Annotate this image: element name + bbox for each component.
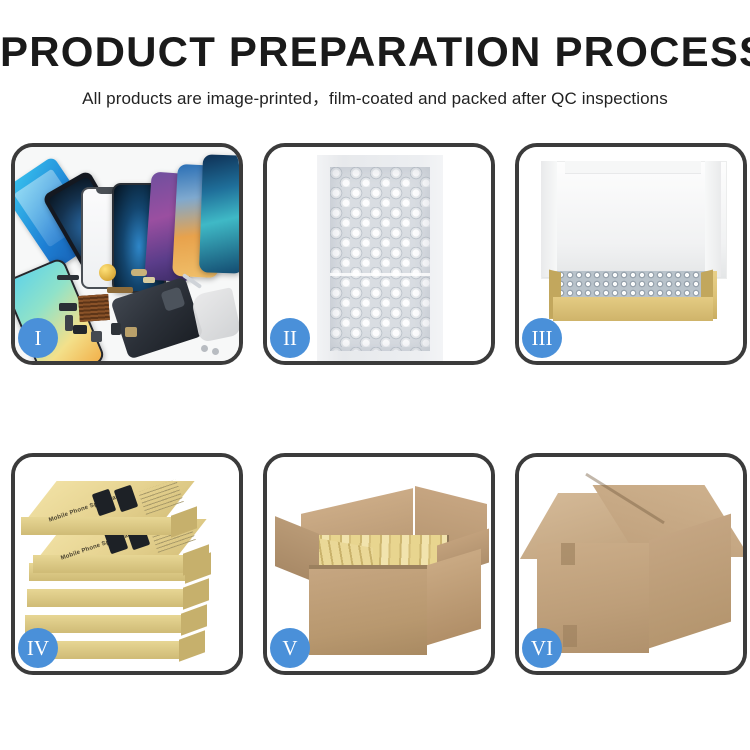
box-front <box>21 517 171 535</box>
spare-part <box>57 275 79 280</box>
spare-part <box>91 331 102 342</box>
wrap-sheet <box>317 155 443 361</box>
spare-part <box>131 269 147 276</box>
step-badge-1: I <box>18 318 58 358</box>
carton-tape-mark <box>561 543 575 565</box>
step-panel-4: Mobile Phone Spare Parts Mobile Phone Sp… <box>11 453 243 675</box>
page-subtitle: All products are image-printed，film-coat… <box>0 84 750 109</box>
spare-part <box>59 303 77 311</box>
step-panel-5: V <box>263 453 495 675</box>
step-badge-4: IV <box>18 628 58 668</box>
spare-part <box>65 315 73 331</box>
step-badge-2: II <box>270 318 310 358</box>
box-lid-flap-left <box>541 161 557 277</box>
flex-cable-part <box>107 287 133 293</box>
step-badge-6: VI <box>522 628 562 668</box>
box-lid-white <box>541 161 727 279</box>
wrap-seam <box>330 273 430 276</box>
step-panel-2: II <box>263 143 495 365</box>
step-panel-1: I <box>11 143 243 365</box>
carton-front-face <box>309 569 427 655</box>
box-front <box>33 555 183 573</box>
wrapped-contents <box>557 271 709 299</box>
process-steps-grid: I II III <box>0 128 750 750</box>
phone-teal-display <box>199 154 243 273</box>
step-panel-3: III <box>515 143 747 365</box>
hand-holding-tool <box>190 287 241 343</box>
spare-part <box>111 323 121 335</box>
step-panel-6: VI <box>515 453 747 675</box>
carton-side-face <box>427 549 481 646</box>
spare-part <box>125 327 137 337</box>
step-badge-5: V <box>270 628 310 668</box>
spare-part <box>143 277 155 283</box>
box-front <box>27 589 183 607</box>
vibration-motor-part <box>99 264 116 281</box>
carton-tape-mark <box>563 625 577 647</box>
spare-part <box>73 325 87 334</box>
connector-chip-grid <box>78 294 110 322</box>
box-lid-edge <box>565 161 701 174</box>
page-title: PRODUCT PREPARATION PROCESS <box>0 30 750 74</box>
tray-front-panel <box>553 297 713 321</box>
bubble-wrap-texture <box>330 167 430 351</box>
page-header: PRODUCT PREPARATION PROCESS All products… <box>0 0 750 128</box>
screws <box>201 345 221 355</box>
step-badge-3: III <box>522 318 562 358</box>
box-lid-flap-right <box>705 161 721 277</box>
